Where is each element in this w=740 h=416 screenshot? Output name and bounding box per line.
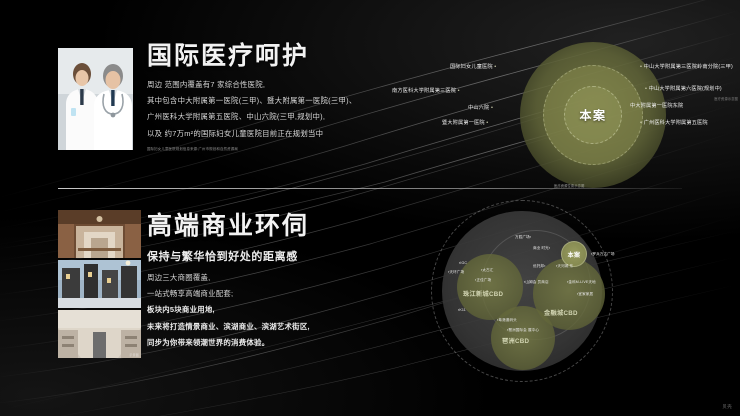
- slide-content: 示意图 国际医疗呵护 周边 范围内覆盖有7 家综合性医院, 其中包含中大附属第一…: [0, 0, 740, 416]
- poi-item: ▪山姆会 员商店: [524, 280, 549, 285]
- poi-label: 优托邦: [533, 264, 544, 268]
- medical-poi-left: 南方医科大学附属第三医院 •: [392, 87, 460, 94]
- commercial-body-line: 未来将打造情景商业、滨湖商业、滨湖艺术街区,: [147, 323, 397, 331]
- poi-item: ▪太古汇: [481, 268, 493, 273]
- poi-label: 金科M-LIVE天地: [568, 280, 595, 284]
- medical-body-line: 广州医科大学附属第五医院、中山六院(三甲,规划中),: [147, 113, 397, 121]
- medical-body-line: 以及 约7万m²的国际妇女儿童医院目前正在规划当中: [147, 130, 397, 138]
- bullet-dot-icon: ▪: [544, 264, 545, 268]
- commercial-photo-1: [58, 210, 141, 258]
- section-medical: 示意图 国际医疗呵护 周边 范围内覆盖有7 家综合性医院, 其中包含中大附属第一…: [0, 28, 740, 178]
- poi-label: 万胜广场: [515, 235, 530, 239]
- commercial-text-column: 高端商业环伺 保持与繁华恰到好处的距离感 周边三大商圈覆盖, 一站式畅享高端商业…: [147, 212, 397, 355]
- district-label-pazhou: 琶洲CBD: [502, 336, 529, 345]
- commercial-body: 周边三大商圈覆盖, 一站式畅享高端商业配套; 板块内5块商业用地, 未来将打造情…: [147, 274, 397, 347]
- commercial-subtitle: 保持与繁华恰到好处的距离感: [147, 248, 397, 264]
- poi-label: 商业 时光: [533, 246, 549, 250]
- poi-item: ▪IGC: [459, 261, 467, 265]
- poi-label: 天环广场: [449, 270, 464, 274]
- bullet-dot-icon: •: [645, 86, 647, 92]
- district-label-jinrong: 金融城CBD: [544, 308, 578, 317]
- medical-poi-label: 国际妇女儿童医院: [450, 64, 493, 70]
- medical-poi-label: 中山大学附属第三医院岭南分院(三甲): [644, 64, 733, 70]
- medical-diagram: 本案 国际妇女儿童医院 • 南方医科大学附属第三医院 • 中山六院 • 暨大附属…: [452, 34, 740, 196]
- poi-item: 万胜广场▪: [515, 235, 531, 240]
- medical-body-line: 周边 范围内覆盖有7 家综合性医院,: [147, 81, 397, 89]
- medical-poi-left: 国际妇女儿童医院 •: [450, 63, 496, 70]
- medical-poi-left: 暨大附属第一医院 •: [442, 119, 488, 126]
- bullet-dot-icon: •: [491, 105, 493, 111]
- medical-poi-right: 中大附属第一医院东院: [630, 102, 683, 109]
- medical-poi-left: 中山六院 •: [468, 104, 493, 111]
- commercial-title: 高端商业环伺: [147, 212, 397, 241]
- poi-label: 粤港澳码头: [498, 318, 516, 322]
- commercial-photo-stack: 示意图: [58, 210, 141, 358]
- medical-poi-label: 南方医科大学附属第三医院: [392, 88, 456, 94]
- poi-item: ▪天环广场: [448, 270, 464, 275]
- poi-label: 山姆会 员商店: [525, 280, 548, 284]
- bullet-dot-icon: •: [640, 64, 642, 70]
- medical-disclaimer: 国际妇女儿童医院规划信息来源:广州市规划和自然资源局: [147, 146, 397, 151]
- commercial-diagram: 本案 珠江新城CBD 金融城CBD 琶洲CBD ▪IGC ▪天环广场 ▪太古汇 …: [415, 196, 705, 386]
- bullet-dot-icon: •: [494, 64, 496, 70]
- commercial-photo-caption: 示意图: [129, 353, 139, 357]
- poi-item: ▪罗兵万达广场: [591, 252, 615, 257]
- medical-text-column: 国际医疗呵护 周边 范围内覆盖有7 家综合性医院, 其中包含中大附属第一医院(三…: [147, 42, 397, 151]
- bullet-dot-icon: ▪: [549, 246, 550, 250]
- bullet-dot-icon: •: [458, 88, 460, 94]
- poi-item: ▪K11: [458, 308, 466, 312]
- medical-poi-right: • 中山大学附属第六医院(规划中): [645, 85, 722, 92]
- commercial-body-line: 一站式畅享高端商业配套;: [147, 290, 397, 298]
- section-commercial: 示意图 高端商业环伺 保持与繁华恰到好处的距离感 周边三大商圈覆盖, 一站式畅享…: [0, 198, 740, 388]
- poi-item: ▪金科M-LIVE天地: [567, 280, 596, 285]
- medical-diagram-side-note: 医疗资源示意图: [714, 96, 738, 101]
- poi-label: IGC: [460, 261, 467, 265]
- medical-center-label: 本案: [579, 107, 606, 124]
- commercial-photo-2: [58, 260, 141, 308]
- poi-item: ▪天河城 东: [556, 264, 573, 269]
- poi-item: ▪粤港澳码头: [497, 318, 517, 323]
- poi-item: ▪琶洲国际会 展中心: [507, 328, 539, 333]
- poi-label: 琶洲国际会 展中心: [508, 328, 539, 332]
- bullet-dot-icon: •: [640, 120, 642, 126]
- medical-poi-label: 广州医科大学附属第五医院: [644, 120, 708, 126]
- watermark: 贝壳: [722, 404, 732, 410]
- medical-poi-right: • 广州医科大学附属第五医院: [640, 119, 708, 126]
- medical-poi-right: • 中山大学附属第三医院岭南分院(三甲): [640, 63, 733, 70]
- medical-body-line: 其中包含中大附属第一医院(三甲)、暨大附属第一医院(三甲)、: [147, 97, 397, 105]
- medical-photo: 示意图: [58, 48, 133, 150]
- poi-item: 优托邦▪: [533, 264, 545, 269]
- poi-item: ▪正佳广场: [475, 278, 491, 283]
- medical-body: 周边 范围内覆盖有7 家综合性医院, 其中包含中大附属第一医院(三甲)、暨大附属…: [147, 81, 397, 151]
- commercial-body-line: 同步为你带来领潮世界的消费体验。: [147, 339, 397, 347]
- poi-label: 正佳广场: [476, 278, 491, 282]
- poi-label: 罗兵万达广场: [592, 252, 614, 256]
- medical-photo-caption: 示意图: [121, 145, 131, 149]
- bullet-dot-icon: •: [486, 120, 488, 126]
- commercial-body-line: 周边三大商圈覆盖,: [147, 274, 397, 282]
- poi-label: 天河城 东: [557, 264, 573, 268]
- poi-item: 商业 时光▪: [533, 246, 550, 251]
- medical-poi-label: 中山大学附属第六医院(规划中): [649, 86, 722, 92]
- slide-stage: 示意图 国际医疗呵护 周边 范围内覆盖有7 家综合性医院, 其中包含中大附属第一…: [0, 0, 740, 416]
- poi-label: 太古汇: [482, 268, 493, 272]
- section-divider: [58, 188, 682, 189]
- medical-poi-label: 中大附属第一医院东院: [630, 103, 683, 109]
- commercial-body-line: 板块内5块商业用地,: [147, 306, 397, 314]
- poi-label: 宜家家居: [578, 292, 593, 296]
- district-label-zhujiang: 珠江新城CBD: [463, 289, 503, 298]
- medical-poi-label: 中山六院: [468, 105, 489, 111]
- medical-poi-label: 暨大附属第一医院: [442, 120, 485, 126]
- commercial-photo-3: [58, 310, 141, 358]
- poi-label: K11: [459, 308, 465, 312]
- medical-title: 国际医疗呵护: [147, 42, 397, 71]
- poi-item: ▪宜家家居: [577, 292, 593, 297]
- bullet-dot-icon: ▪: [530, 235, 531, 239]
